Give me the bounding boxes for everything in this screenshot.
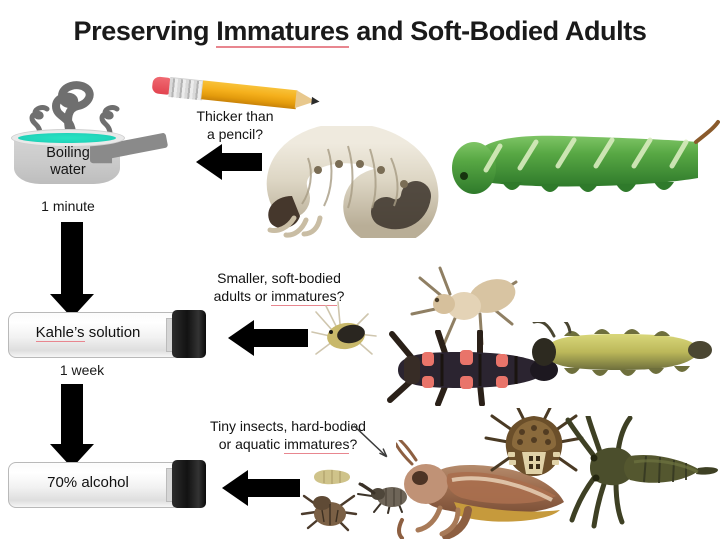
pencil-ferrule — [168, 77, 204, 100]
page-title: Preserving Immatures and Soft-Bodied Adu… — [0, 16, 720, 47]
boiling-water-pot: Boiling water — [6, 76, 166, 186]
sawfly-larva — [524, 322, 714, 384]
pot-water-surface — [18, 133, 116, 143]
vial-cap — [172, 310, 206, 358]
kahles-label-rest: solution — [85, 324, 141, 341]
step-2-duration: 1 week — [8, 362, 156, 378]
question-3-misspelled: immatures — [284, 436, 349, 454]
pot-label: Boiling water — [20, 145, 116, 179]
pot-label-line-2: water — [20, 162, 116, 179]
title-part-1: Preserving — [74, 16, 217, 46]
pencil-body — [201, 80, 297, 109]
pencil-lead — [311, 97, 320, 106]
title-part-2: and Soft-Bodied Adults — [349, 16, 646, 46]
question-1-line-1: Thicker than — [180, 108, 290, 126]
left-arrow-icon-2 — [228, 320, 308, 356]
alcohol-vial: 70% alcohol — [8, 462, 208, 510]
question-2-pre: adults or — [214, 288, 272, 304]
pot-label-line-1: Boiling — [20, 145, 116, 162]
down-arrow-icon-1 — [50, 222, 94, 318]
question-3-pre: or aquatic — [219, 436, 284, 452]
vial-cap — [172, 460, 206, 508]
down-arrow-icon-2 — [50, 384, 94, 468]
green-hornworm-caterpillar — [444, 112, 720, 216]
question-2-line-1: Smaller, soft-bodied — [186, 270, 372, 288]
pointer-line-icon — [352, 424, 396, 464]
dragonfly-nymph — [560, 416, 720, 532]
alcohol-label: 70% alcohol — [8, 474, 168, 491]
kahles-word: Kahle’s — [36, 324, 85, 341]
white-grub-larva — [248, 126, 448, 238]
title-misspelled-word: Immatures — [216, 16, 349, 47]
kahles-solution-vial: Kahle’s solution — [8, 312, 208, 360]
step-1-duration: 1 minute — [6, 198, 130, 214]
tiny-pale-larva — [310, 468, 352, 486]
kahles-solution-label: Kahle’s solution — [8, 324, 168, 341]
small-beetle — [300, 488, 358, 532]
left-arrow-icon-3 — [222, 470, 300, 506]
